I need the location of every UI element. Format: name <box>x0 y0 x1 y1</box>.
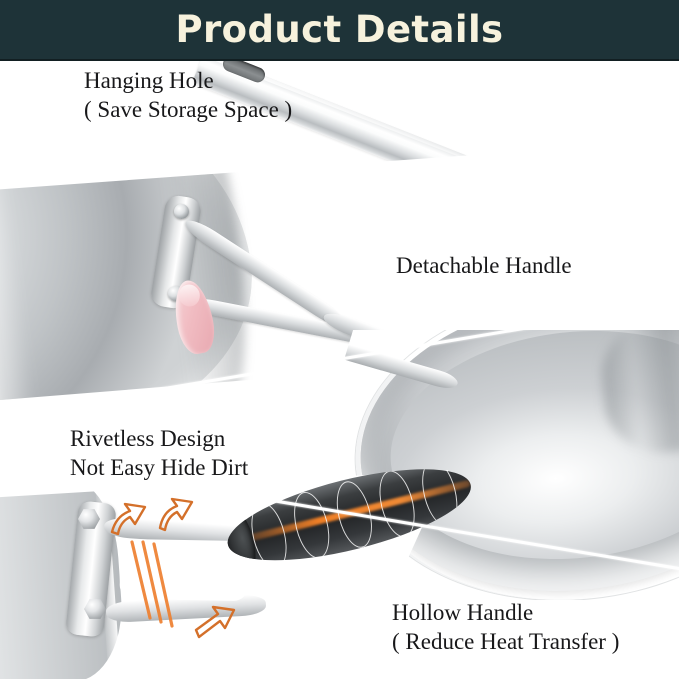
product-details-infographic: Product Details <box>0 0 679 679</box>
label-rivetless-line2: Not Easy Hide Dirt <box>70 453 248 482</box>
rivet-icon <box>174 204 189 219</box>
label-hollow-handle: Hollow Handle ( Reduce Heat Transfer ) <box>392 598 619 657</box>
header-bar: Product Details <box>0 0 679 59</box>
label-hanging-hole-line1: Hanging Hole <box>84 66 292 95</box>
tube-ring <box>288 488 336 562</box>
label-detachable-handle-line1: Detachable Handle <box>396 251 572 280</box>
label-rivetless-line1: Rivetless Design <box>70 424 248 453</box>
label-hanging-hole-line2: ( Save Storage Space ) <box>84 95 292 124</box>
page-title: Product Details <box>176 11 504 48</box>
label-hanging-hole: Hanging Hole ( Save Storage Space ) <box>84 66 292 125</box>
header-underline <box>0 59 679 61</box>
label-hollow-handle-line1: Hollow Handle <box>392 598 619 627</box>
tube-ring <box>373 467 421 541</box>
label-detachable-handle: Detachable Handle <box>396 251 572 280</box>
pan-body-shape <box>0 140 269 400</box>
label-rivetless-design: Rivetless Design Not Easy Hide Dirt <box>70 424 248 483</box>
label-hollow-handle-line2: ( Reduce Heat Transfer ) <box>392 627 619 656</box>
